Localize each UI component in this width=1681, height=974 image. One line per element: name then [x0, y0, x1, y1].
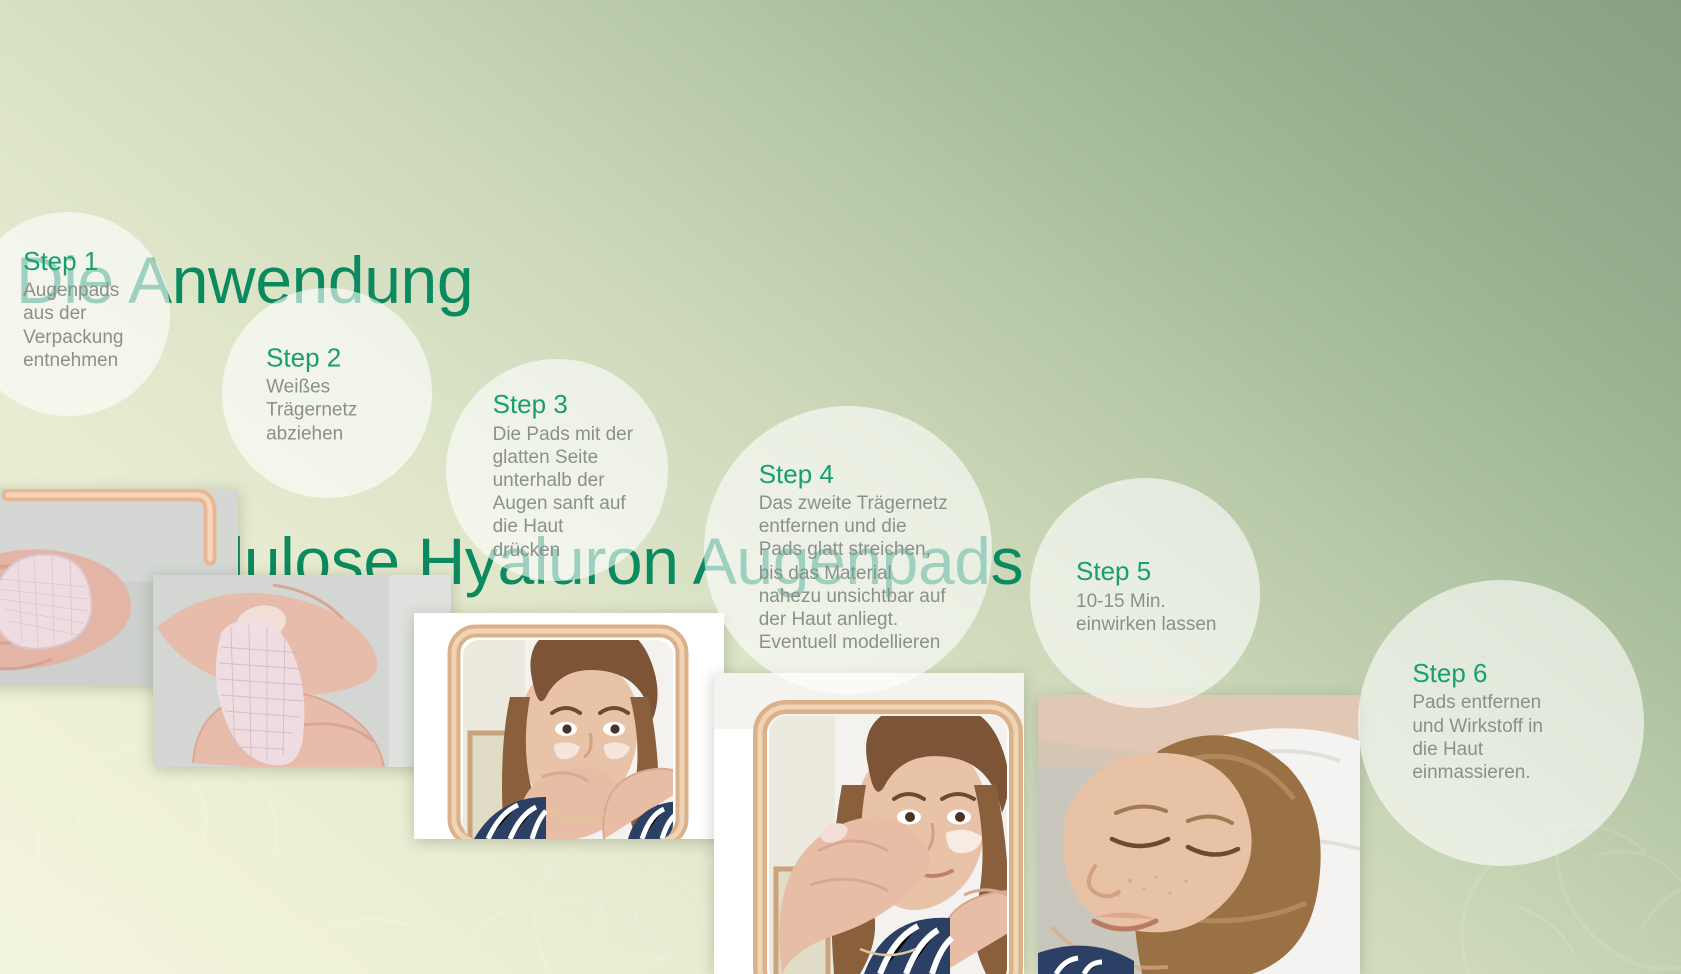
photo-peeling-carrier-net: [153, 575, 451, 767]
title-line-1: Die Anwendung: [16, 234, 1416, 328]
step-5-text: Step 5 10-15 Min. einwirken lassen: [1076, 554, 1246, 636]
step-3-label: Step 3: [493, 387, 657, 421]
step-4-text: Step 4 Das zweite Trägernetz entfernen u…: [759, 457, 978, 655]
photo-applying-pads: [414, 613, 724, 839]
step-bubble-4[interactable]: Step 4 Das zweite Trägernetz entfernen u…: [704, 406, 992, 694]
step-4-label: Step 4: [759, 457, 978, 491]
slide-canvas: Die Anwendung Bio-Cellulose Hyaluron Aug…: [0, 0, 1681, 974]
step-6-text: Step 6 Pads entfernen und Wirkstoff in d…: [1412, 656, 1635, 784]
step-6-label: Step 6: [1412, 656, 1635, 690]
step-6-description: Pads entfernen und Wirkstoff in die Haut…: [1412, 691, 1635, 784]
step-bubble-2[interactable]: Step 2 Weißes Trägernetz abziehen: [222, 288, 432, 498]
step-5-description: 10-15 Min. einwirken lassen: [1076, 590, 1246, 636]
step-1-label: Step 1: [23, 244, 166, 278]
step-2-description: Weißes Trägernetz abziehen: [266, 376, 417, 446]
photo-resting: [1038, 695, 1360, 974]
photo-smoothing-pads: [714, 673, 1024, 974]
step-4-description: Das zweite Trägernetz entfernen und die …: [759, 492, 978, 654]
step-3-description: Die Pads mit der glatten Seite unterhalb…: [493, 423, 657, 562]
step-2-text: Step 2 Weißes Trägernetz abziehen: [266, 341, 417, 446]
step-3-text: Step 3 Die Pads mit der glatten Seite un…: [493, 387, 657, 561]
step-bubble-5[interactable]: Step 5 10-15 Min. einwirken lassen: [1030, 478, 1260, 708]
step-5-label: Step 5: [1076, 554, 1246, 588]
step-2-label: Step 2: [266, 341, 417, 375]
step-1-description: Augenpads aus der Verpackung entnehmen: [23, 279, 166, 372]
step-1-text: Step 1 Augenpads aus der Verpackung entn…: [23, 244, 166, 372]
step-bubble-6[interactable]: Step 6 Pads entfernen und Wirkstoff in d…: [1358, 580, 1644, 866]
step-bubble-3[interactable]: Step 3 Die Pads mit der glatten Seite un…: [446, 359, 668, 581]
